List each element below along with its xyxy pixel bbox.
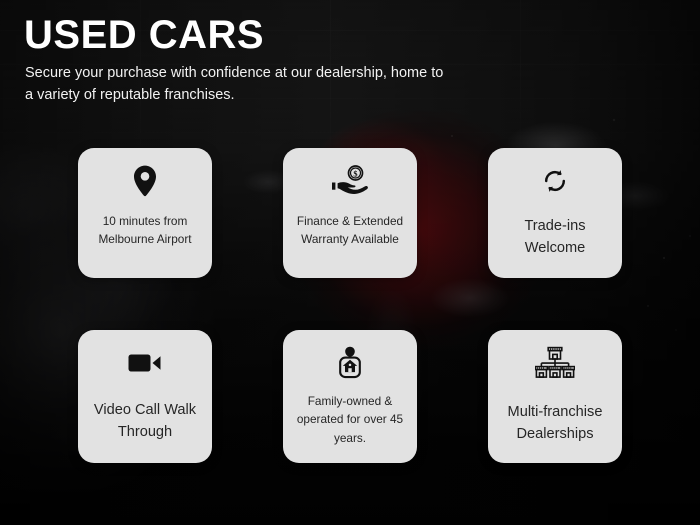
feature-card-airport-distance[interactable]: 10 minutes from Melbourne Airport bbox=[78, 148, 212, 278]
feature-card-label: Finance & Extended Warranty Available bbox=[291, 212, 409, 249]
feature-card-label: Video Call Walk Through bbox=[86, 400, 204, 444]
page-subtitle: Secure your purchase with confidence at … bbox=[25, 62, 445, 107]
banner-content: USED CARS Secure your purchase with conf… bbox=[0, 0, 700, 525]
exchange-arrows-icon bbox=[541, 164, 569, 198]
feature-card-grid: 10 minutes from Melbourne Airport $ Fina… bbox=[78, 148, 628, 463]
feature-card-family-owned[interactable]: Family-owned & operated for over 45 year… bbox=[283, 330, 417, 463]
feature-card-video-call[interactable]: Video Call Walk Through bbox=[78, 330, 212, 463]
video-camera-icon bbox=[128, 346, 162, 380]
person-with-house-icon bbox=[333, 346, 367, 380]
feature-card-trade-ins[interactable]: Trade-ins Welcome bbox=[488, 148, 622, 278]
feature-card-label: 10 minutes from Melbourne Airport bbox=[86, 212, 204, 249]
feature-card-multi-franchise[interactable]: Multi-franchise Dealerships bbox=[488, 330, 622, 463]
location-pin-icon bbox=[133, 164, 157, 198]
feature-card-label: Multi-franchise Dealerships bbox=[496, 402, 614, 446]
feature-card-label: Family-owned & operated for over 45 year… bbox=[291, 392, 409, 447]
used-cars-promo-banner: USED CARS Secure your purchase with conf… bbox=[0, 0, 700, 525]
feature-card-label: Trade-ins Welcome bbox=[496, 216, 614, 260]
page-title: USED CARS bbox=[24, 14, 264, 56]
feature-card-finance-warranty[interactable]: $ Finance & Extended Warranty Available bbox=[283, 148, 417, 278]
svg-text:$: $ bbox=[353, 170, 357, 179]
hand-holding-coin-icon: $ bbox=[330, 164, 370, 198]
franchise-hierarchy-icon bbox=[535, 346, 575, 380]
